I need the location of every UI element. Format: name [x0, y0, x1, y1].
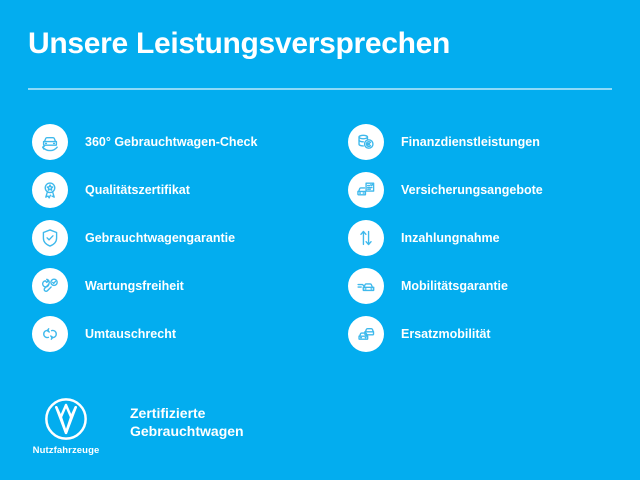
promise-label: Versicherungsangebote: [401, 182, 543, 198]
promise-label: Wartungsfreiheit: [85, 278, 184, 294]
car-document-icon: [348, 172, 384, 208]
promise-label: Ersatzmobilität: [401, 326, 491, 342]
header: Unsere Leistungsversprechen: [28, 26, 612, 62]
award-rosette-icon: [32, 172, 68, 208]
coins-euro-icon: [348, 124, 384, 160]
wrench-check-icon: [32, 268, 68, 304]
promise-item-gebrauchtwagengarantie[interactable]: Gebrauchtwagengarantie: [32, 214, 325, 262]
promise-item-umtauschrecht[interactable]: Umtauschrecht: [32, 310, 325, 358]
promise-item-inzahlungnahme[interactable]: Inzahlungnahme: [348, 214, 640, 262]
volkswagen-logo: [43, 396, 89, 442]
promise-label: Qualitätszertifikat: [85, 182, 190, 198]
car-360-check-icon: [32, 124, 68, 160]
promises-slide: Unsere Leistungsversprechen 360° Gebrauc…: [0, 0, 640, 480]
brand-lockup: Nutzfahrzeuge Zertifizierte Gebrauchtwag…: [30, 396, 244, 456]
brand-claim-line-2: Gebrauchtwagen: [130, 422, 244, 440]
shield-check-icon: [32, 220, 68, 256]
vw-sub-label: Nutzfahrzeuge: [33, 445, 100, 456]
two-cars-icon: [348, 316, 384, 352]
promise-label: Umtauschrecht: [85, 326, 176, 342]
promises-grid: 360° Gebrauchtwagen-Check Qualitätszerti…: [0, 118, 640, 358]
promise-item-gebrauchtwagen-check[interactable]: 360° Gebrauchtwagen-Check: [32, 118, 325, 166]
promises-column-right: Finanzdienstleistungen Versicherungsange…: [325, 118, 640, 358]
promise-item-ersatzmobilitaet[interactable]: Ersatzmobilität: [348, 310, 640, 358]
promise-label: Gebrauchtwagengarantie: [85, 230, 235, 246]
promise-label: Mobilitätsgarantie: [401, 278, 508, 294]
title-divider: [28, 88, 612, 90]
promise-item-versicherungsangebote[interactable]: Versicherungsangebote: [348, 166, 640, 214]
promise-item-qualitaetszertifikat[interactable]: Qualitätszertifikat: [32, 166, 325, 214]
promise-item-finanzdienstleistungen[interactable]: Finanzdienstleistungen: [348, 118, 640, 166]
promises-column-left: 360° Gebrauchtwagen-Check Qualitätszerti…: [0, 118, 325, 358]
promise-item-mobilitaetsgarantie[interactable]: Mobilitätsgarantie: [348, 262, 640, 310]
vw-logo-block: Nutzfahrzeuge: [30, 396, 102, 456]
page-title: Unsere Leistungsversprechen: [28, 26, 612, 62]
up-down-arrows-icon: [348, 220, 384, 256]
exchange-arrows-icon: [32, 316, 68, 352]
promise-label: Inzahlungnahme: [401, 230, 500, 246]
brand-claim-line-1: Zertifizierte: [130, 404, 244, 422]
promise-label: 360° Gebrauchtwagen-Check: [85, 134, 257, 150]
brand-claim: Zertifizierte Gebrauchtwagen: [130, 404, 244, 440]
promise-label: Finanzdienstleistungen: [401, 134, 540, 150]
tow-truck-icon: [348, 268, 384, 304]
promise-item-wartungsfreiheit[interactable]: Wartungsfreiheit: [32, 262, 325, 310]
